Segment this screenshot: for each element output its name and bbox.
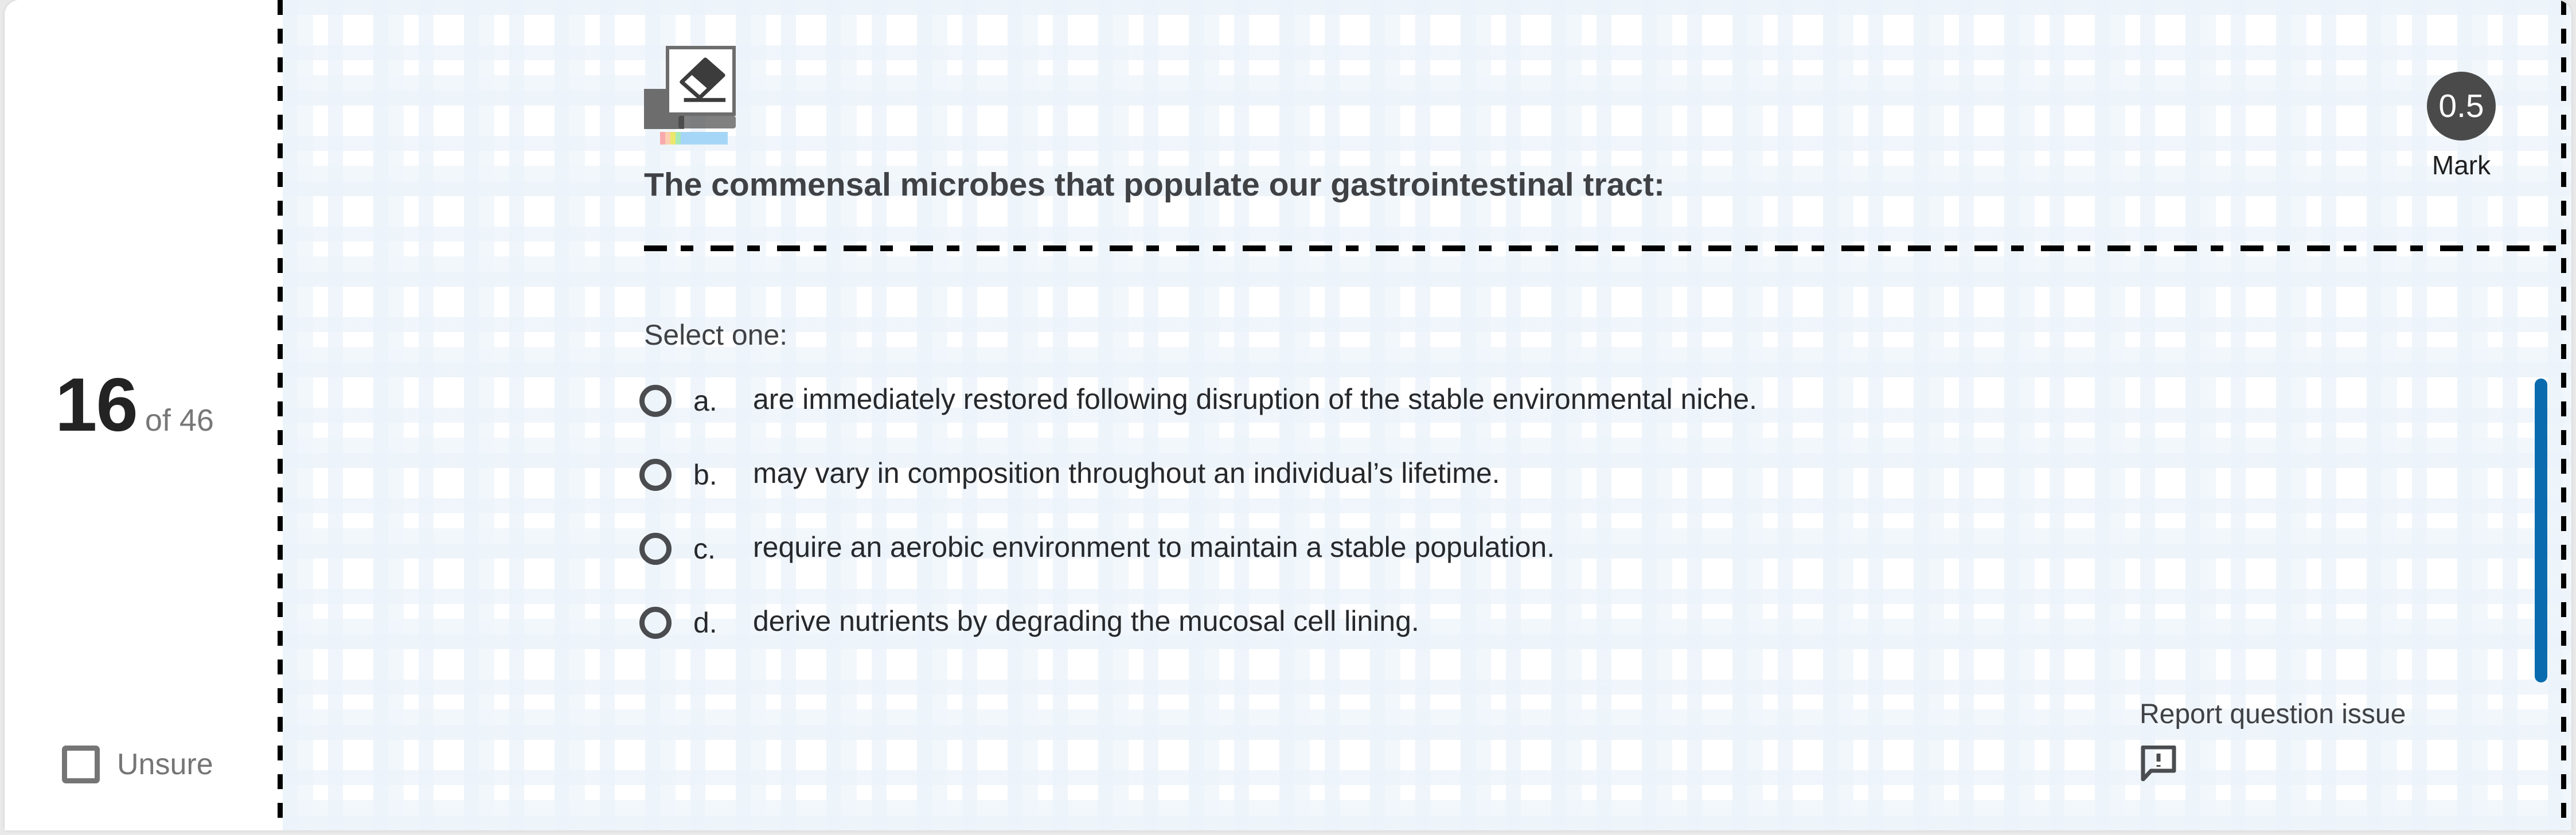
option-text-a: are immediately restored following disru… bbox=[753, 381, 1940, 417]
option-text-b: may vary in composition throughout an in… bbox=[753, 455, 1940, 491]
question-total: of 46 bbox=[145, 405, 214, 436]
answer-option-d[interactable]: d. derive nutrients by degrading the muc… bbox=[639, 603, 2474, 677]
option-text-d: derive nutrients by degrading the mucosa… bbox=[753, 603, 1940, 639]
report-question-issue-label: Report question issue bbox=[2140, 701, 2507, 728]
mark-badge: 0.5 Mark bbox=[2409, 72, 2514, 181]
left-rail: 16 of 46 Unsure bbox=[5, 0, 283, 830]
option-letter-d: d. bbox=[693, 607, 717, 639]
vertical-scrollbar[interactable] bbox=[2535, 0, 2547, 830]
eraser-icon-color-bar bbox=[660, 132, 728, 145]
unsure-toggle[interactable]: Unsure bbox=[62, 746, 213, 783]
mark-caption: Mark bbox=[2409, 150, 2514, 181]
answer-option-c[interactable]: c. require an aerobic environment to mai… bbox=[639, 529, 2474, 603]
question-body: The commensal microbes that populate our… bbox=[283, 0, 2571, 830]
option-letter-b: b. bbox=[693, 459, 717, 491]
eraser-icon-glyph bbox=[673, 53, 729, 109]
radio-button-b[interactable] bbox=[639, 459, 672, 491]
stem-dashed-divider bbox=[644, 245, 2559, 251]
eraser-icon bbox=[644, 34, 747, 143]
answer-option-a[interactable]: a. are immediately restored following di… bbox=[639, 381, 2474, 455]
option-letter-a: a. bbox=[693, 385, 717, 417]
report-question-issue-button[interactable]: Report question issue bbox=[2140, 701, 2507, 784]
rail-dashed-divider bbox=[278, 0, 283, 830]
mark-value: 0.5 bbox=[2427, 72, 2496, 141]
scrollbar-thumb[interactable] bbox=[2535, 379, 2547, 682]
eraser-icon-ghost-stroke bbox=[678, 116, 736, 128]
answer-options-list: a. are immediately restored following di… bbox=[639, 381, 2474, 677]
option-letter-c: c. bbox=[693, 533, 716, 565]
radio-button-d[interactable] bbox=[639, 607, 672, 639]
panel-dashed-divider-right bbox=[2561, 0, 2566, 830]
unsure-label: Unsure bbox=[117, 747, 213, 782]
question-card: 16 of 46 Unsure The commensal microbes bbox=[5, 0, 2571, 830]
radio-button-c[interactable] bbox=[639, 533, 672, 565]
question-stem: The commensal microbes that populate our… bbox=[644, 166, 2536, 204]
checkbox-empty-icon[interactable] bbox=[62, 746, 100, 783]
speech-bubble-exclamation-icon[interactable] bbox=[2140, 746, 2177, 781]
option-text-c: require an aerobic environment to mainta… bbox=[753, 529, 1940, 565]
select-instruction: Select one: bbox=[644, 318, 787, 352]
question-counter: 16 of 46 bbox=[55, 367, 214, 443]
question-number: 16 bbox=[55, 367, 137, 443]
answer-option-b[interactable]: b. may vary in composition throughout an… bbox=[639, 455, 2474, 529]
radio-button-a[interactable] bbox=[639, 385, 672, 417]
